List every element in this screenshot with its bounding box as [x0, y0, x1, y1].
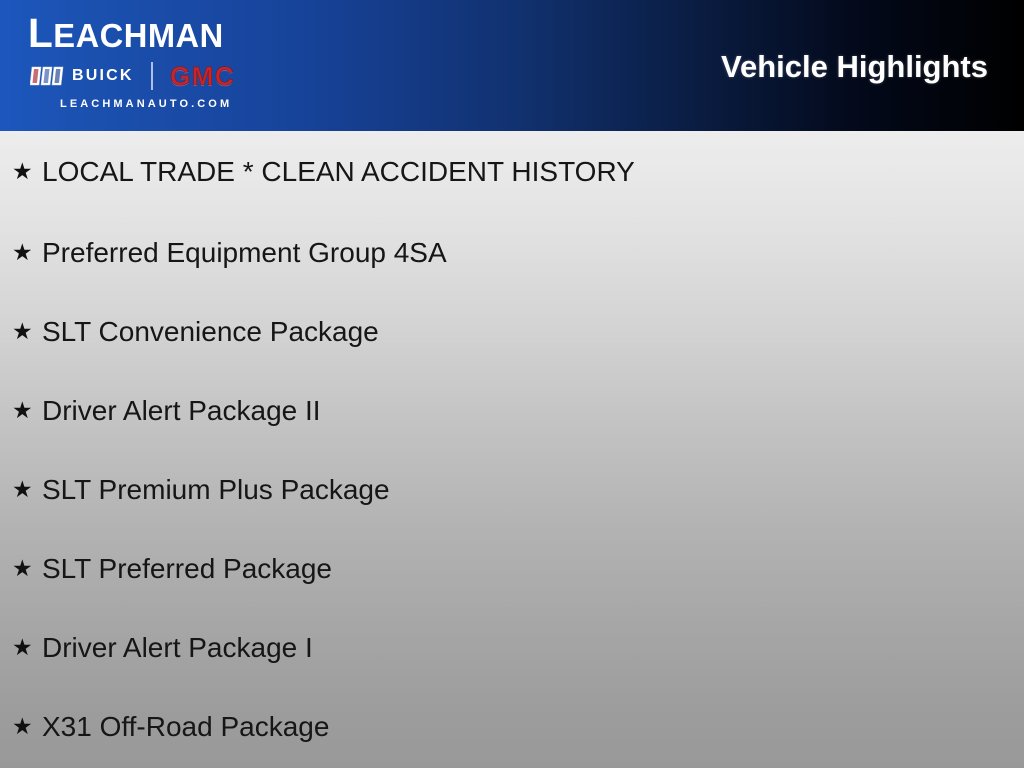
buick-trishield-icon — [30, 66, 64, 86]
highlight-label: SLT Preferred Package — [42, 552, 1024, 586]
highlight-label: Driver Alert Package I — [42, 631, 1024, 665]
list-item: ★ Driver Alert Package I — [0, 608, 1024, 687]
list-item: ★ LOCAL TRADE * CLEAN ACCIDENT HISTORY — [0, 131, 1024, 213]
star-bullet-icon: ★ — [12, 556, 42, 582]
brand-divider — [151, 62, 153, 90]
list-item: ★ SLT Convenience Package — [0, 292, 1024, 371]
wordmark-rest: EACHMAN — [53, 17, 223, 54]
star-bullet-icon: ★ — [12, 398, 42, 424]
star-bullet-icon: ★ — [12, 159, 42, 185]
star-bullet-icon: ★ — [12, 240, 42, 266]
leachman-wordmark: LEACHMAN — [28, 11, 287, 56]
list-item: ★ Preferred Equipment Group 4SA — [0, 213, 1024, 292]
wordmark-lead-letter: L — [28, 10, 53, 56]
gmc-label: GMC — [170, 61, 235, 91]
star-bullet-icon: ★ — [12, 635, 42, 661]
dealership-logo[interactable]: LEACHMAN BUICK — [0, 0, 318, 131]
dealership-website-url[interactable]: LEACHMANAUTO.COM — [60, 97, 232, 111]
highlights-content: ★ LOCAL TRADE * CLEAN ACCIDENT HISTORY ★… — [0, 131, 1024, 768]
buick-label: BUICK — [72, 66, 134, 85]
highlight-label: SLT Premium Plus Package — [42, 473, 1024, 507]
highlight-label: Preferred Equipment Group 4SA — [42, 236, 1024, 270]
highlight-label: X31 Off-Road Package — [42, 710, 1024, 744]
vehicle-highlights-page: LEACHMAN BUICK — [0, 0, 1024, 768]
highlight-label: Driver Alert Package II — [42, 394, 1024, 428]
highlight-label: SLT Convenience Package — [42, 315, 1024, 349]
star-bullet-icon: ★ — [12, 319, 42, 345]
page-header: LEACHMAN BUICK — [0, 0, 1024, 131]
list-item: ★ X31 Off-Road Package — [0, 687, 1024, 766]
list-item: ★ Driver Alert Package II — [0, 371, 1024, 450]
page-title: Vehicle Highlights — [721, 48, 988, 85]
vehicle-highlights-list: ★ LOCAL TRADE * CLEAN ACCIDENT HISTORY ★… — [0, 131, 1024, 766]
star-bullet-icon: ★ — [12, 477, 42, 503]
list-item: ★ SLT Premium Plus Package — [0, 450, 1024, 529]
list-item: ★ SLT Preferred Package — [0, 529, 1024, 608]
brand-row: BUICK GMC — [30, 62, 292, 90]
star-bullet-icon: ★ — [12, 714, 42, 740]
highlight-label: LOCAL TRADE * CLEAN ACCIDENT HISTORY — [42, 155, 1024, 189]
